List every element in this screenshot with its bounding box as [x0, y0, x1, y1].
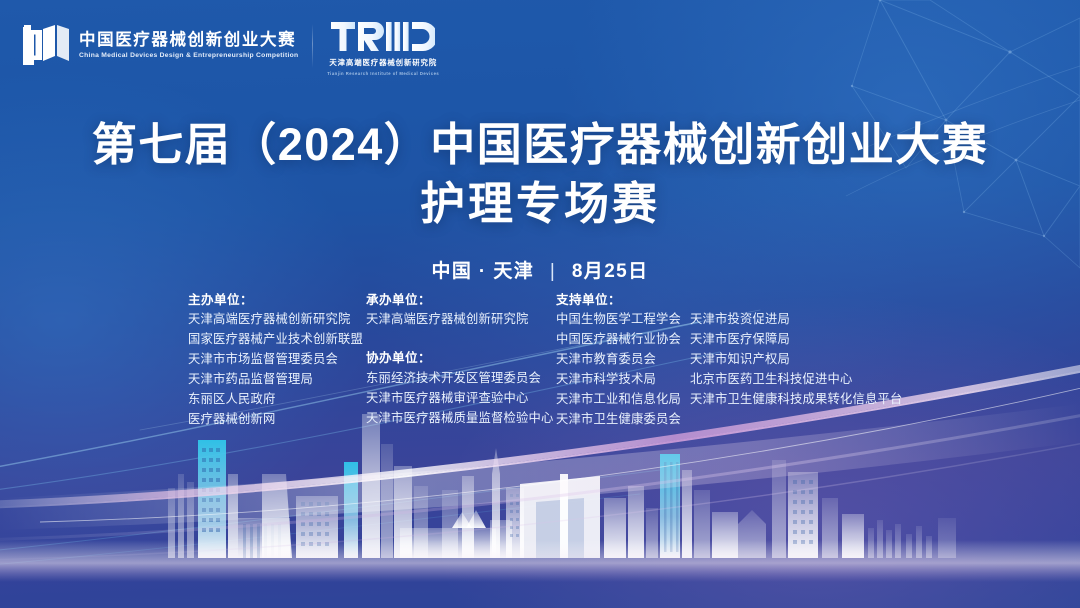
supporter-column: 支持单位： 中国生物医学工程学会 中国医疗器械行业协会 天津市教育委员会 天津市… [556, 290, 900, 430]
organizer-group: 主办单位： 天津高端医疗器械创新研究院 国家医疗器械产业技术创新联盟 天津市市场… [188, 290, 366, 430]
supporter-item: 北京市医药卫生科技促进中心 [690, 370, 900, 390]
open-door-logo-icon [22, 22, 72, 68]
organizer-item: 医疗器械创新网 [188, 410, 366, 430]
co-organizer-group: 协办单位： 东丽经济技术开发区管理委员会 天津市医疗器械审评查验中心 天津市医疗… [366, 348, 556, 428]
title-line-1: 第七届（2024）中国医疗器械创新创业大赛 [0, 116, 1080, 173]
host-column: 承办单位： 天津高端医疗器械创新研究院 协办单位： 东丽经济技术开发区管理委员会… [366, 290, 556, 428]
institute-logo: 天津高端医疗器械创新研究院 Tianjin Research Institute… [327, 20, 439, 76]
supporter-split: 支持单位： 中国生物医学工程学会 中国医疗器械行业协会 天津市教育委员会 天津市… [556, 290, 900, 430]
institute-logo-en-name: Tianjin Research Institute of Medical De… [327, 71, 439, 76]
supporter-column-left: 支持单位： 中国生物医学工程学会 中国医疗器械行业协会 天津市教育委员会 天津市… [556, 290, 690, 430]
organizer-item: 天津高端医疗器械创新研究院 [188, 310, 366, 330]
competition-logo: 中国医疗器械创新创业大赛 China Medical Devices Desig… [22, 22, 296, 68]
supporter-item: 天津市卫生健康委员会 [556, 410, 690, 430]
supporter-heading: 支持单位： [556, 290, 690, 310]
co-organizer-item: 东丽经济技术开发区管理委员会 [366, 369, 556, 389]
co-organizer-item: 天津市医疗器械质量监督检验中心 [366, 409, 556, 429]
supporter-item: 天津市医疗保障局 [690, 330, 900, 350]
host-item: 天津高端医疗器械创新研究院 [366, 310, 556, 330]
organizer-column: 主办单位： 天津高端医疗器械创新研究院 国家医疗器械产业技术创新联盟 天津市市场… [188, 290, 366, 430]
event-meta: 中国 · 天津 | 8月25日 [0, 256, 1080, 283]
supporter-column-right: 天津市投资促进局 天津市医疗保障局 天津市知识产权局 北京市医药卫生科技促进中心… [690, 290, 900, 410]
organizer-heading: 主办单位： [188, 290, 366, 310]
logo-divider [312, 24, 313, 68]
organizer-item: 天津市药品监督管理局 [188, 370, 366, 390]
supporter-item: 天津市知识产权局 [690, 350, 900, 370]
host-group: 承办单位： 天津高端医疗器械创新研究院 [366, 290, 556, 330]
supporter-item: 天津市卫生健康科技成果转化信息平台 [690, 390, 900, 410]
event-date: 8月25日 [572, 261, 649, 282]
co-organizer-item: 天津市医疗器械审评查验中心 [366, 389, 556, 409]
host-heading: 承办单位： [366, 290, 556, 310]
supporter-item: 天津市投资促进局 [690, 310, 900, 330]
competition-logo-cn-name: 中国医疗器械创新创业大赛 [79, 31, 296, 49]
supporter-item: 天津市教育委员会 [556, 350, 690, 370]
institute-logo-cn-name: 天津高端医疗器械创新研究院 [329, 57, 437, 68]
poster-canvas: 中国医疗器械创新创业大赛 China Medical Devices Desig… [0, 0, 1080, 608]
supporter-item: 天津市科学技术局 [556, 370, 690, 390]
logo-bar: 中国医疗器械创新创业大赛 China Medical Devices Desig… [22, 22, 439, 76]
supporter-item: 中国生物医学工程学会 [556, 310, 690, 330]
supporter-item: 中国医疗器械行业协会 [556, 330, 690, 350]
organizer-item: 国家医疗器械产业技术创新联盟 [188, 330, 366, 350]
organizer-item: 东丽区人民政府 [188, 390, 366, 410]
supporter-item: 天津市工业和信息化局 [556, 390, 690, 410]
trimd-wordmark-icon [331, 20, 435, 53]
title-line-2: 护理专场赛 [0, 175, 1080, 232]
meta-separator: | [550, 261, 556, 283]
organizer-item: 天津市市场监督管理委员会 [188, 350, 366, 370]
event-location: 中国 · 天津 [431, 261, 534, 282]
title-block: 第七届（2024）中国医疗器械创新创业大赛 护理专场赛 [0, 116, 1080, 232]
competition-logo-en-name: China Medical Devices Design & Entrepren… [79, 52, 301, 59]
co-organizer-heading: 协办单位： [366, 348, 556, 368]
organizations-block: 主办单位： 天津高端医疗器械创新研究院 国家医疗器械产业技术创新联盟 天津市市场… [188, 290, 900, 430]
